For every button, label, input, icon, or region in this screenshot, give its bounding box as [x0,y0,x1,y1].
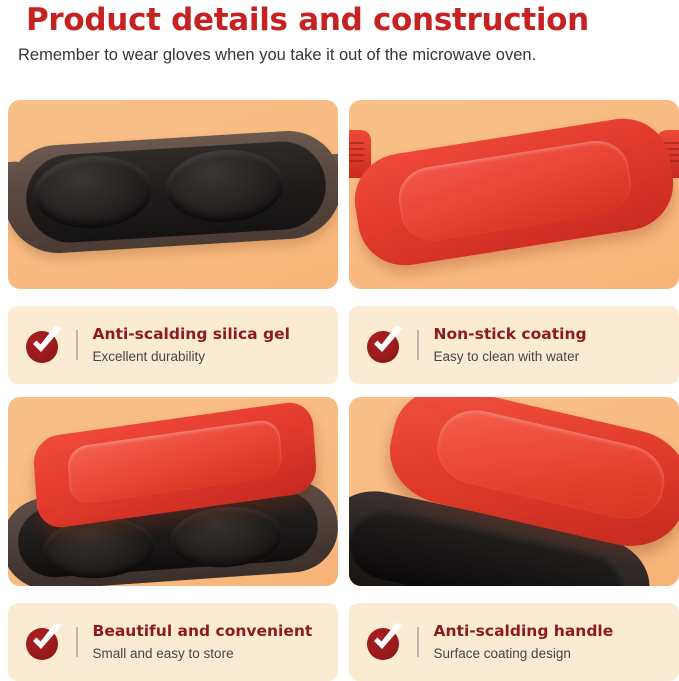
photo-stage [349,397,679,586]
caption-heading: Beautiful and convenient [93,621,313,642]
product-photo-tray-top [8,100,338,289]
product-photo-lid-above-tray [8,397,338,586]
page-title: Product details and construction [8,2,671,38]
caption-divider [76,330,78,360]
check-badge-icon [24,622,64,662]
lid-raised-panel [67,418,283,506]
check-badge-icon [365,622,405,662]
caption-subtext: Surface coating design [434,644,614,664]
check-badge-icon [24,325,64,365]
caption-subtext: Small and easy to store [93,644,313,664]
check-mark-icon [365,622,405,662]
caption-subtext: Excellent durability [93,347,290,367]
page-header: Product details and construction Remembe… [0,0,679,66]
caption-divider [417,330,419,360]
caption-heading: Anti-scalding handle [434,621,614,642]
caption-divider [417,627,419,657]
feature-cell-anti-scalding-silica-gel: Anti-scalding silica gel Excellent durab… [8,100,338,384]
photo-stage [349,100,679,289]
feature-caption-card: Non-stick coating Easy to clean with wat… [349,306,679,384]
product-photo-handle-closeup [349,397,679,586]
lid-raised-panel [430,403,671,527]
feature-grid: Anti-scalding silica gel Excellent durab… [0,100,679,681]
page-subtitle: Remember to wear gloves when you take it… [8,44,671,66]
check-badge-icon [365,325,405,365]
caption-subtext: Easy to clean with water [434,347,587,367]
caption-heading: Anti-scalding silica gel [93,324,290,345]
caption-text: Non-stick coating Easy to clean with wat… [434,324,587,367]
product-infographic-page: Product details and construction Remembe… [0,0,679,673]
photo-stage [8,100,338,289]
feature-cell-beautiful-and-convenient: Beautiful and convenient Small and easy … [8,397,338,681]
tray-cavity-right [168,503,284,571]
check-mark-icon [24,622,64,662]
caption-divider [76,627,78,657]
caption-text: Anti-scalding handle Surface coating des… [434,621,614,664]
lid-body [349,112,679,272]
feature-cell-non-stick-coating: Non-stick coating Easy to clean with wat… [349,100,679,384]
lid-raised-panel [394,136,635,245]
product-photo-lid-top [349,100,679,289]
check-mark-icon [24,325,64,365]
feature-caption-card: Anti-scalding handle Surface coating des… [349,603,679,681]
feature-cell-anti-scalding-handle: Anti-scalding handle Surface coating des… [349,397,679,681]
photo-stage [8,397,338,586]
feature-caption-card: Anti-scalding silica gel Excellent durab… [8,306,338,384]
caption-heading: Non-stick coating [434,324,587,345]
check-mark-icon [365,325,405,365]
caption-text: Beautiful and convenient Small and easy … [93,621,313,664]
caption-text: Anti-scalding silica gel Excellent durab… [93,324,290,367]
feature-caption-card: Beautiful and convenient Small and easy … [8,603,338,681]
